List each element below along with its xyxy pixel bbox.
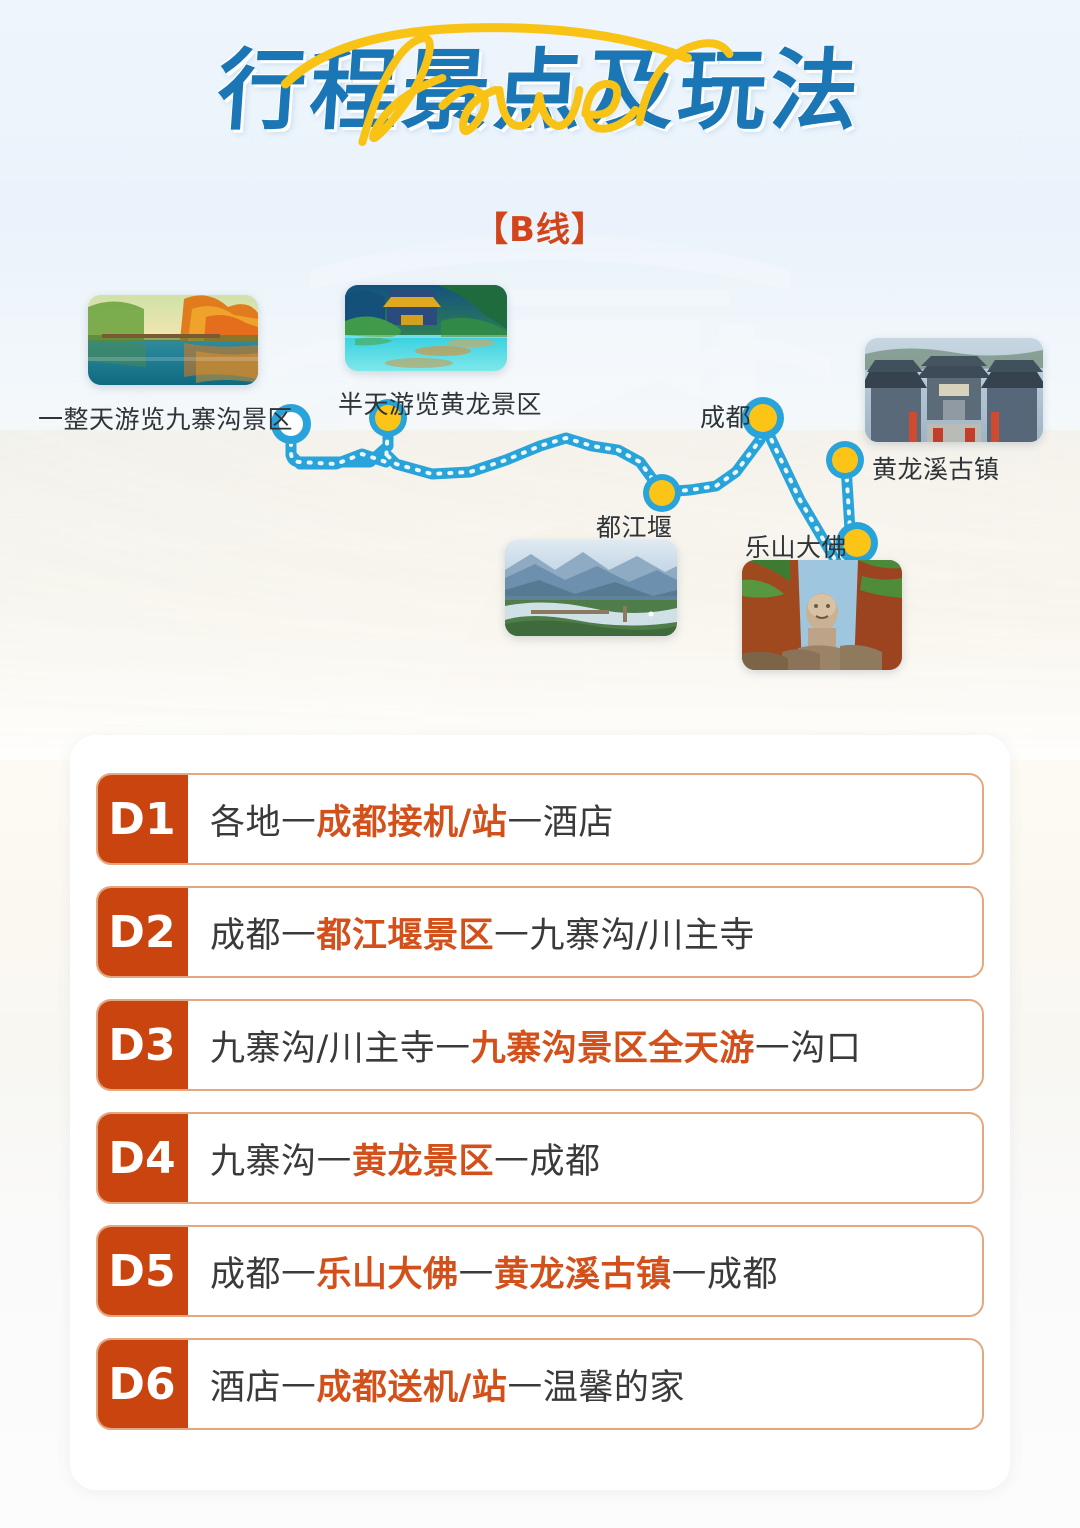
itinerary-segment: — bbox=[281, 1364, 317, 1404]
itinerary-row[interactable]: D2成都—都江堰景区—九寨沟/川主寺 bbox=[96, 886, 984, 978]
itinerary-segment: — bbox=[494, 1138, 530, 1178]
itinerary-highlight-segment: 成都接机/站 bbox=[317, 794, 508, 845]
itinerary-segment: — bbox=[317, 1138, 353, 1178]
itinerary-highlight-segment: 黄龙景区 bbox=[352, 1133, 494, 1184]
itinerary-segment: 成都 bbox=[707, 1246, 778, 1297]
title-block: 行程景点及玩法 【B线】 bbox=[0, 40, 1080, 240]
itinerary-segment: — bbox=[281, 799, 317, 839]
itinerary-row-text: 酒店—成都送机/站—温馨的家 bbox=[188, 1340, 982, 1428]
itinerary-segment: — bbox=[435, 1025, 471, 1065]
itinerary-segment: 温馨的家 bbox=[543, 1359, 685, 1410]
itinerary-row[interactable]: D5成都—乐山大佛—黄龙溪古镇—成都 bbox=[96, 1225, 984, 1317]
photo-huanglong bbox=[345, 285, 507, 371]
itinerary-segment: — bbox=[507, 1364, 543, 1404]
itinerary-highlight-segment: 乐山大佛 bbox=[317, 1246, 459, 1297]
itinerary-segment: 九寨沟/川主寺 bbox=[530, 907, 755, 958]
itinerary-row-text: 成都—都江堰景区—九寨沟/川主寺 bbox=[188, 888, 982, 976]
itinerary-segment: 成都 bbox=[210, 1246, 281, 1297]
itinerary-row-text: 九寨沟/川主寺—九寨沟景区全天游—沟口 bbox=[188, 1001, 982, 1089]
itinerary-segment: — bbox=[459, 1251, 495, 1291]
itinerary-segment: 成都 bbox=[530, 1133, 601, 1184]
marker-huanglongxi bbox=[826, 441, 864, 479]
itinerary-row-text: 成都—乐山大佛—黄龙溪古镇—成都 bbox=[188, 1227, 982, 1315]
itinerary-row[interactable]: D3九寨沟/川主寺—九寨沟景区全天游—沟口 bbox=[96, 999, 984, 1091]
itinerary-segment: — bbox=[672, 1251, 708, 1291]
route-subtitle: 【B线】 bbox=[0, 202, 1080, 251]
itinerary-segment: 酒店 bbox=[543, 794, 614, 845]
itinerary-highlight-segment: 黄龙溪古镇 bbox=[494, 1246, 672, 1297]
map-label-dujiangyan: 都江堰 bbox=[596, 508, 673, 544]
itinerary-highlight-segment: 都江堰景区 bbox=[317, 907, 495, 958]
day-badge: D6 bbox=[96, 1338, 188, 1430]
itinerary-card: D1各地—成都接机/站—酒店D2成都—都江堰景区—九寨沟/川主寺D3九寨沟/川主… bbox=[70, 735, 1010, 1490]
map-label-huanglongxi: 黄龙溪古镇 bbox=[872, 450, 1000, 486]
day-badge: D3 bbox=[96, 999, 188, 1091]
itinerary-segment: — bbox=[507, 799, 543, 839]
photo-leshan bbox=[742, 560, 902, 670]
itinerary-segment: 各地 bbox=[210, 794, 281, 845]
itinerary-row-text: 九寨沟—黄龙景区—成都 bbox=[188, 1114, 982, 1202]
photo-jiuzhaigou bbox=[88, 295, 258, 385]
day-badge: D2 bbox=[96, 886, 188, 978]
itinerary-row[interactable]: D4九寨沟—黄龙景区—成都 bbox=[96, 1112, 984, 1204]
itinerary-row[interactable]: D6酒店—成都送机/站—温馨的家 bbox=[96, 1338, 984, 1430]
marker-dujiangyan bbox=[643, 474, 681, 512]
itinerary-segment: 酒店 bbox=[210, 1359, 281, 1410]
itinerary-segment: 九寨沟/川主寺 bbox=[210, 1020, 435, 1071]
photo-huanglongxi bbox=[865, 338, 1043, 442]
itinerary-segment: — bbox=[494, 912, 530, 952]
itinerary-row-list: D1各地—成都接机/站—酒店D2成都—都江堰景区—九寨沟/川主寺D3九寨沟/川主… bbox=[96, 773, 984, 1430]
route-map: 一整天游览九寨沟景区 bbox=[0, 250, 1080, 720]
day-badge: D5 bbox=[96, 1225, 188, 1317]
map-label-leshan: 乐山大佛 bbox=[745, 528, 847, 564]
itinerary-highlight-segment: 成都送机/站 bbox=[317, 1359, 508, 1410]
itinerary-segment: 九寨沟 bbox=[210, 1133, 317, 1184]
itinerary-row-text: 各地—成都接机/站—酒店 bbox=[188, 775, 982, 863]
itinerary-segment: — bbox=[281, 1251, 317, 1291]
day-badge: D4 bbox=[96, 1112, 188, 1204]
photo-caption-jiuzhaigou: 一整天游览九寨沟景区 bbox=[38, 400, 293, 436]
map-label-chengdu: 成都 bbox=[700, 398, 751, 434]
itinerary-row[interactable]: D1各地—成都接机/站—酒店 bbox=[96, 773, 984, 865]
itinerary-segment: 沟口 bbox=[790, 1020, 861, 1071]
poster-root: 行程景点及玩法 【B线】 bbox=[0, 0, 1080, 1528]
photo-dujiangyan bbox=[505, 540, 677, 636]
itinerary-segment: 成都 bbox=[210, 907, 281, 958]
page-title: 行程景点及玩法 bbox=[214, 40, 865, 141]
itinerary-highlight-segment: 九寨沟景区全天游 bbox=[471, 1020, 755, 1071]
itinerary-segment: — bbox=[281, 912, 317, 952]
itinerary-segment: — bbox=[755, 1025, 791, 1065]
day-badge: D1 bbox=[96, 773, 188, 865]
photo-caption-huanglong: 半天游览黄龙景区 bbox=[338, 385, 542, 421]
